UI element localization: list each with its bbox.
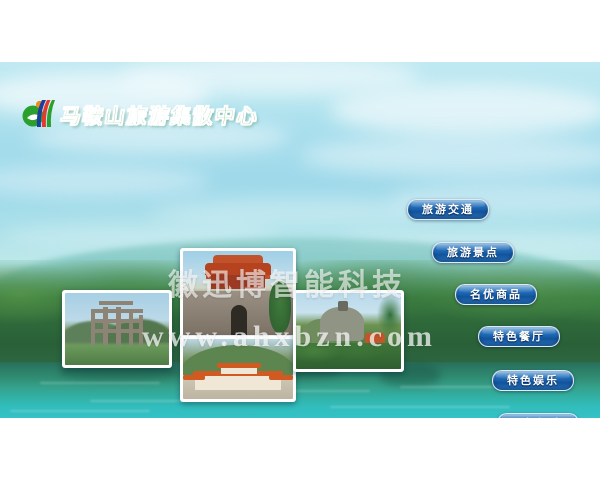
swoosh-emblem-icon xyxy=(22,97,56,131)
kiosk-homepage-banner: 马鞍山旅游集散中心 xyxy=(0,62,600,418)
cloud-decoration xyxy=(300,136,600,176)
nav-button-products[interactable]: 名优商品 xyxy=(455,284,537,305)
nav-button-attractions[interactable]: 旅游景点 xyxy=(432,242,514,263)
screenshot-canvas: 马鞍山旅游集散中心 xyxy=(0,0,600,488)
site-logo[interactable]: 马鞍山旅游集散中心 xyxy=(22,97,259,131)
gallery-photo-archway[interactable] xyxy=(62,290,172,368)
photo-image-archway xyxy=(65,293,169,365)
cloud-decoration xyxy=(330,84,600,136)
nav-button-transport[interactable]: 旅游交通 xyxy=(407,199,489,220)
nav-button-entertainment[interactable]: 特色娱乐 xyxy=(492,370,574,391)
photo-image-gate xyxy=(183,251,293,335)
gallery-photo-mountain[interactable] xyxy=(293,290,404,372)
gallery-photo-temple[interactable] xyxy=(180,336,296,402)
nav-button-restaurants[interactable]: 特色餐厅 xyxy=(478,326,560,347)
photo-image-temple xyxy=(183,339,293,399)
nav-button-hotels[interactable]: 星级酒店 xyxy=(497,413,579,418)
photo-image-mountain xyxy=(296,293,401,369)
gallery-photo-gate[interactable] xyxy=(180,248,296,338)
site-title: 马鞍山旅游集散中心 xyxy=(59,100,261,129)
